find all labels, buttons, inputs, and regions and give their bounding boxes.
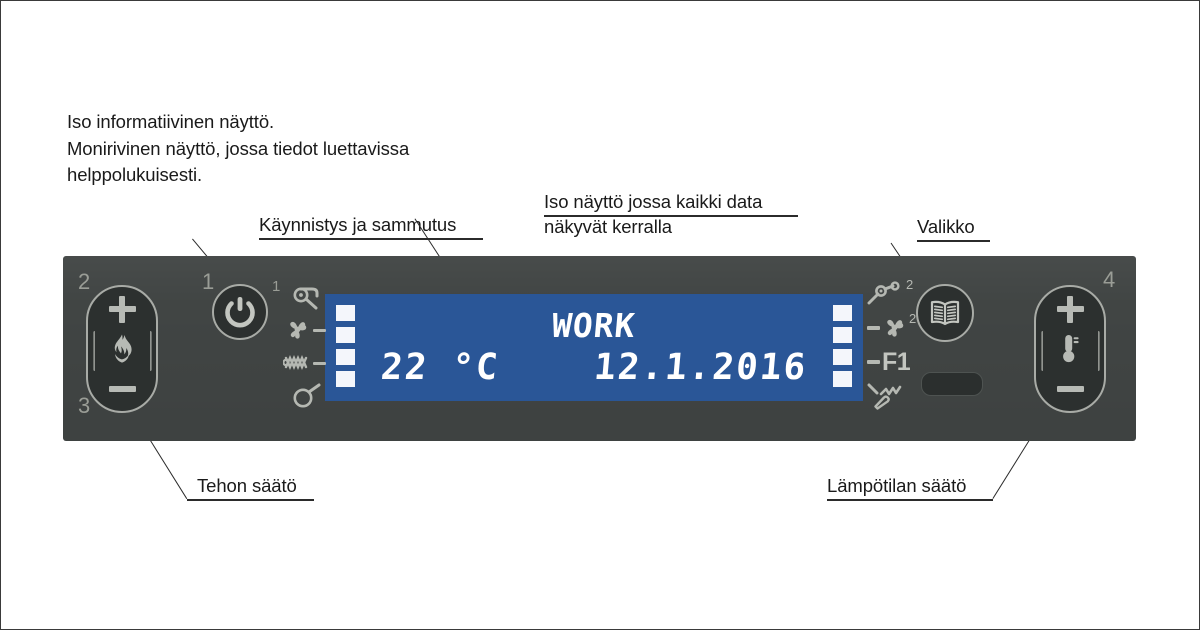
lcd-indicator [833, 349, 852, 365]
fuse-f1-icon: F1 [867, 348, 910, 376]
fuse-f1-label: F1 [882, 348, 910, 377]
intro-description-text: Iso informatiivinen näyttö. Monirivinen … [67, 109, 409, 189]
lcd-indicators-left [336, 305, 355, 387]
sensor-window [921, 372, 983, 396]
pump-2-superscript: 2 [906, 280, 913, 290]
screenshot-root: Iso informatiivinen näyttö. Monirivinen … [0, 0, 1200, 630]
lcd-text-area: WORK 22 °C 12.1.2016 [371, 300, 817, 395]
lcd-indicator [833, 305, 852, 321]
power-on-off-button[interactable] [212, 284, 268, 340]
flame-icon [105, 332, 139, 366]
annotation-temp-adjust-label: Lämpötilan säätö [827, 473, 966, 498]
lcd-data-line: 22 °C 12.1.2016 [379, 347, 809, 389]
power-decrease-button[interactable] [107, 374, 137, 404]
annotation-display-label: Iso näyttö jossa kaikki data näkyvät ker… [544, 189, 762, 239]
power-icon [225, 296, 255, 328]
power-adjust-rocker[interactable] [86, 285, 158, 413]
annotation-menu-underline [917, 240, 990, 242]
fan-2-connector-dash [867, 326, 880, 330]
left-status-icon-column [284, 284, 326, 410]
power-increase-button[interactable] [107, 294, 137, 324]
annotation-power-underline [259, 238, 483, 240]
igniter-icon [867, 382, 907, 410]
lcd-indicators-right [833, 305, 852, 387]
annotation-menu-label: Valikko [917, 214, 975, 239]
annotation-temp-adjust-underline [827, 499, 993, 501]
annotation-power-adjust-label: Tehon säätö [197, 473, 297, 498]
auger-connector-dash [313, 362, 326, 366]
lcd-indicator [336, 349, 355, 365]
lcd-indicator [336, 327, 355, 343]
temperature-decrease-button[interactable] [1055, 374, 1085, 404]
lcd-indicator [336, 305, 355, 321]
fan-icon [285, 317, 326, 345]
lcd-indicator [833, 371, 852, 387]
fuse-connector-dash [867, 360, 880, 364]
annotation-display-underline [544, 215, 798, 217]
fan-connector-dash [313, 329, 326, 333]
thermometer-icon [1053, 332, 1087, 366]
panel-number-2: 2 [78, 269, 90, 295]
panel-number-3: 3 [78, 393, 90, 419]
temperature-adjust-rocker[interactable] [1034, 285, 1106, 413]
manual-book-icon [929, 299, 961, 327]
lcd-display: WORK 22 °C 12.1.2016 [325, 294, 863, 401]
panel-number-1-right: 1 [272, 278, 280, 295]
pump-2-icon: 2 [867, 280, 913, 308]
temperature-increase-button[interactable] [1055, 294, 1085, 324]
circulation-valve-icon [292, 382, 326, 410]
right-status-icon-column: 2 2 F1 [867, 280, 923, 410]
annotation-power-adjust-underline [187, 499, 314, 501]
pump-icon [292, 284, 326, 312]
annotation-power-button-label: Käynnistys ja sammutus [259, 212, 456, 237]
menu-button[interactable] [916, 284, 974, 342]
fan-2-icon: 2 [867, 314, 916, 342]
auger-screw-icon [283, 349, 326, 377]
panel-number-4: 4 [1103, 267, 1115, 293]
lcd-indicator [833, 327, 852, 343]
panel-number-1-left: 1 [202, 269, 214, 295]
lcd-status-line: WORK [551, 307, 638, 345]
lcd-indicator [336, 371, 355, 387]
